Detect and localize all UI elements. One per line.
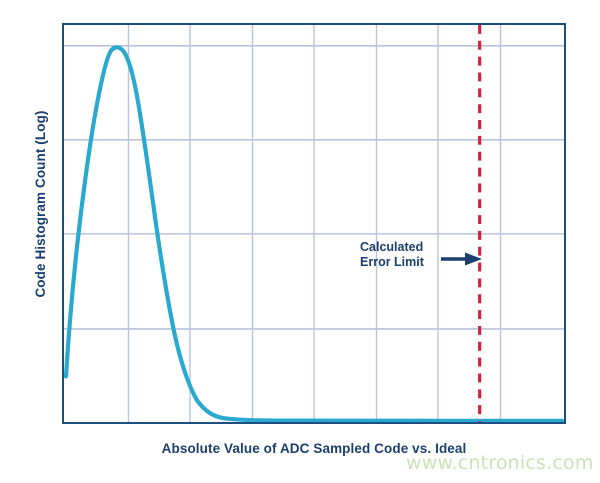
right-arrow-icon [441,251,483,267]
y-axis-title: Code Histogram Count (Log) [20,64,60,344]
plot-svg [64,25,564,422]
chart-figure: Code Histogram Count (Log) [0,0,600,483]
vertical-gridlines [128,25,500,422]
watermark: www.cntronics.com [406,452,594,474]
plot-area [62,23,566,424]
